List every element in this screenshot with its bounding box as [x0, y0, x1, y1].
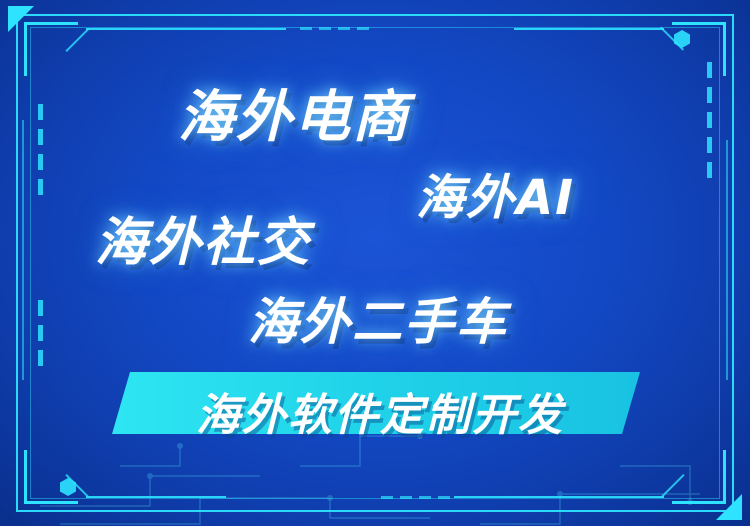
tick-marks-left — [38, 104, 43, 195]
headline-ecommerce: 海外电商 — [178, 72, 410, 153]
promo-poster: 海外电商 海外AI 海外社交 海外二手车 海外软件定制开发 — [0, 0, 750, 526]
dot-line-bottom — [381, 496, 450, 499]
headline-ai: 海外AI — [416, 158, 575, 228]
ribbon-label: 海外软件定制开发 — [135, 379, 625, 443]
frame-side-line-right — [726, 140, 728, 380]
tick-marks-right — [707, 62, 712, 178]
frame-accent-line-bottom-left — [86, 496, 226, 498]
frame-accent-line-top-right — [514, 28, 664, 30]
headline-social: 海外社交 — [95, 200, 311, 275]
tick-marks-left-lower — [38, 300, 43, 366]
frame-accent-line-bottom — [454, 496, 664, 498]
frame-side-line-left — [22, 120, 24, 380]
frame-accent-line-top — [86, 28, 286, 30]
corner-bracket-top-left — [24, 22, 78, 76]
dot-line-top — [300, 27, 369, 30]
headline-used-cars: 海外二手车 — [248, 282, 508, 354]
